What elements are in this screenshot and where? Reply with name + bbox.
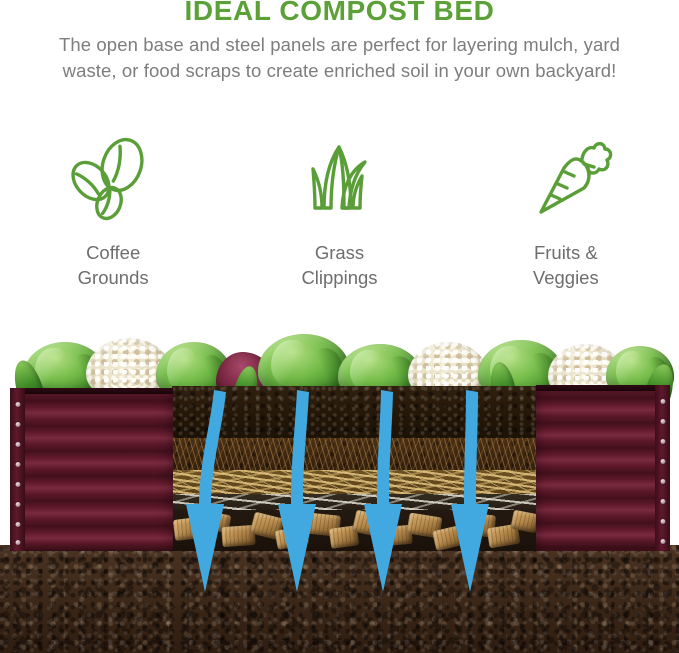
rivet [15, 522, 20, 527]
rivet [660, 499, 665, 504]
rivet [15, 462, 20, 467]
log-layer [172, 510, 536, 551]
panel-top-edge [10, 388, 173, 394]
header: IDEAL COMPOST BED The open base and stee… [0, 0, 679, 84]
feature-label-line-1: Grass [301, 240, 377, 265]
rivet [15, 482, 20, 487]
compost-layer [172, 438, 536, 470]
panel-top-edge [536, 385, 670, 391]
bed-panel-right [536, 385, 670, 551]
rivet [15, 540, 20, 545]
corner-post-right [655, 385, 670, 551]
feature-grass-clippings: Grass Clippings [226, 134, 452, 294]
coffee-beans-icon [67, 134, 159, 226]
rivet [15, 422, 20, 427]
feature-label-fruits-veggies: Fruits & Veggies [533, 240, 599, 290]
feature-label-line-1: Coffee [78, 240, 149, 265]
feature-label-coffee-grounds: Coffee Grounds [78, 240, 149, 290]
ground-soil-layer [0, 545, 679, 653]
feature-label-grass-clippings: Grass Clippings [301, 240, 377, 290]
carrot-icon [520, 134, 612, 226]
page-subtitle: The open base and steel panels are perfe… [45, 32, 635, 84]
rivet [15, 442, 20, 447]
rivet [660, 439, 665, 444]
rivet [660, 519, 665, 524]
feature-label-line-2: Grounds [78, 265, 149, 290]
rivet [15, 402, 20, 407]
rivet [660, 539, 665, 544]
feature-label-line-2: Veggies [533, 265, 599, 290]
compostable-materials-row: Coffee Grounds Grass Clippings [0, 134, 679, 294]
rivet [660, 479, 665, 484]
rivet [15, 502, 20, 507]
rivet [660, 419, 665, 424]
bed-panel-left [10, 388, 173, 551]
page-title: IDEAL COMPOST BED [0, 0, 679, 26]
feature-label-line-1: Fruits & [533, 240, 599, 265]
soil-cutaway-section [172, 386, 536, 551]
feature-fruits-veggies: Fruits & Veggies [453, 134, 679, 294]
topsoil-layer [172, 386, 536, 438]
product-infographic: IDEAL COMPOST BED The open base and stee… [0, 0, 679, 653]
rivet [660, 459, 665, 464]
corner-post-left [10, 388, 25, 551]
raised-garden-bed-cutaway [0, 318, 679, 653]
rivet [660, 399, 665, 404]
feature-coffee-grounds: Coffee Grounds [0, 134, 226, 294]
feature-label-line-2: Clippings [301, 265, 377, 290]
grass-blades-icon [293, 134, 385, 226]
